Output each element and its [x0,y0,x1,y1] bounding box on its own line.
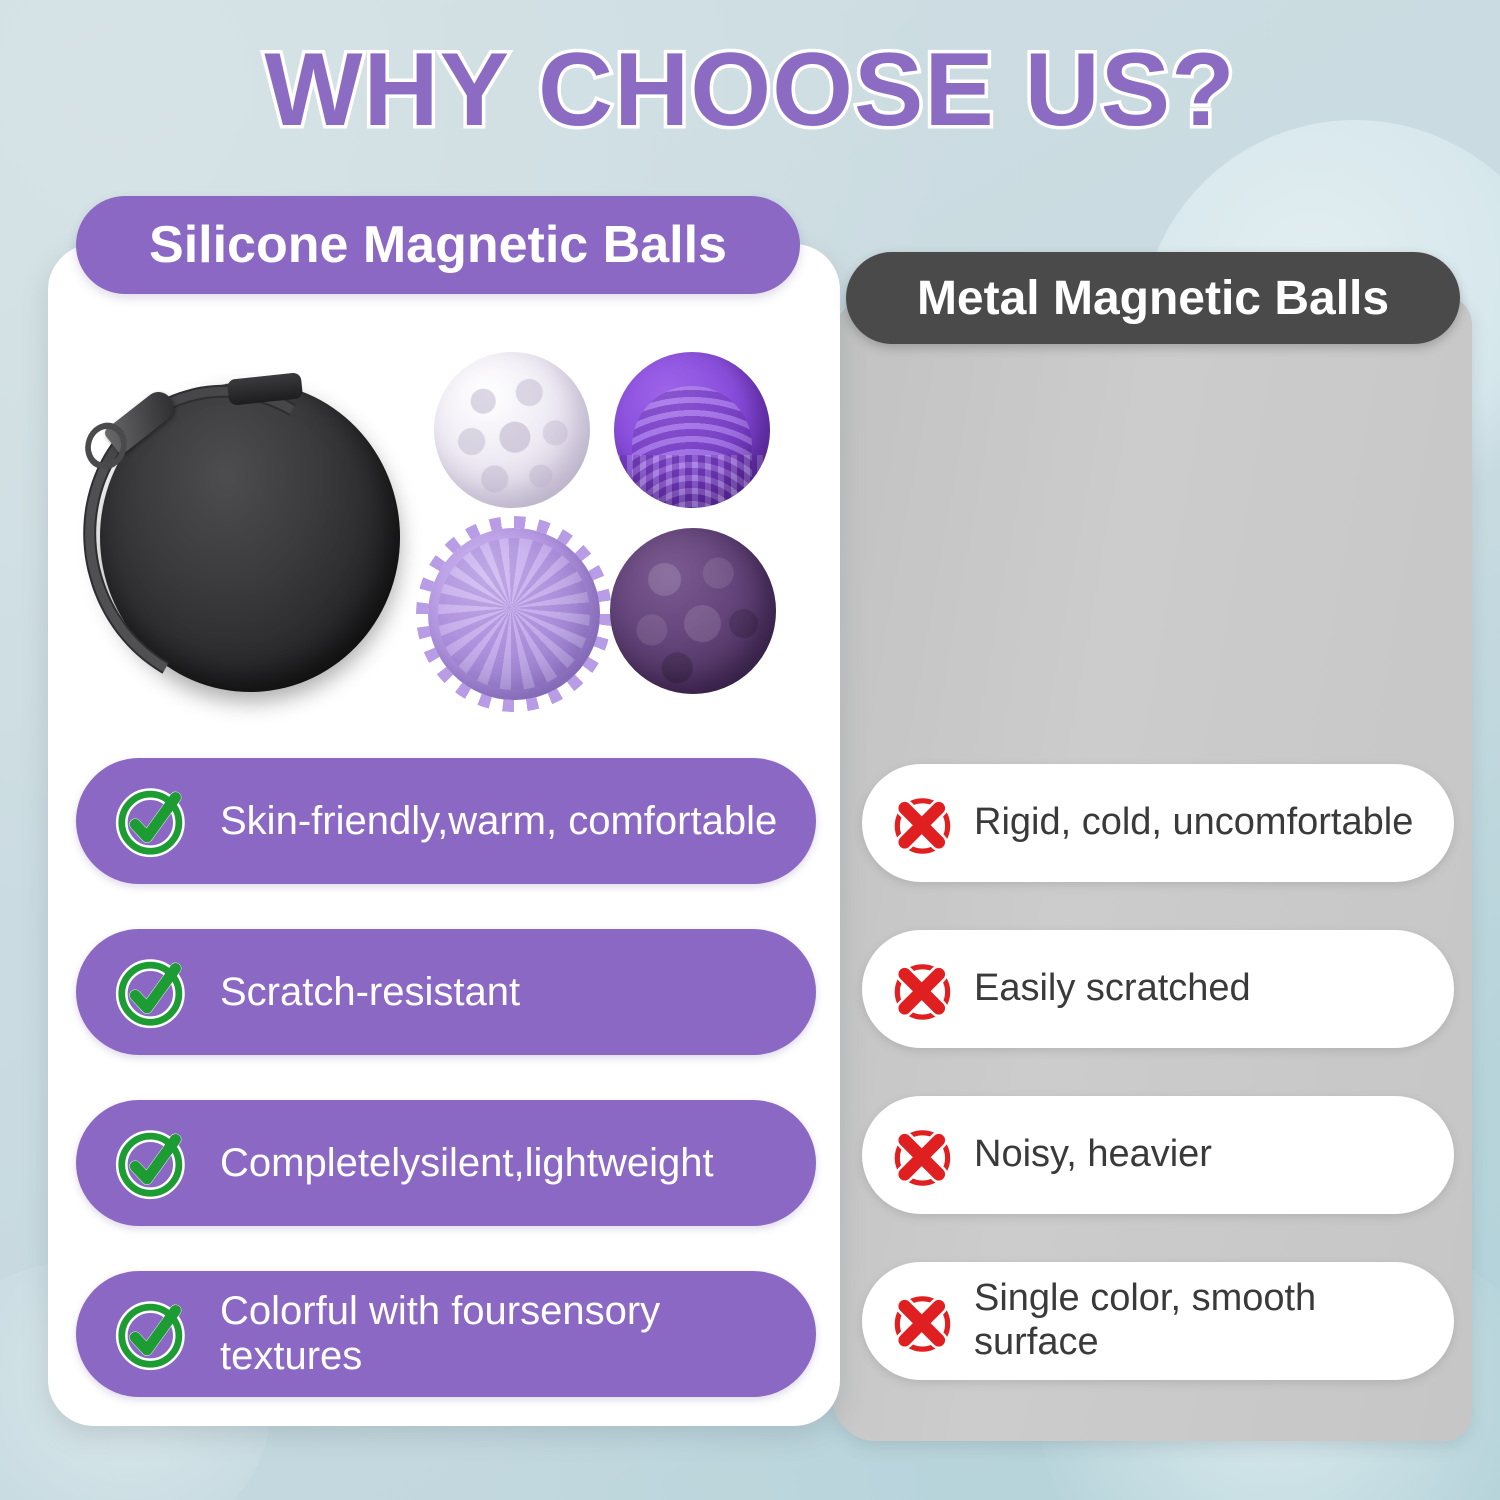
metal-badge: Metal Magnetic Balls [846,252,1460,344]
list-item-label: Single color, smooth surface [974,1277,1454,1364]
page-title: WHY CHOOSE US? [0,34,1500,146]
infographic-canvas: WHY CHOOSE US? Metal Magnetic [0,0,1500,1500]
light-purple-spiky-ball [428,528,600,700]
x-circle-icon [884,1118,958,1192]
dark-purple-bumpy-ball [610,528,776,694]
list-item-label: Easily scratched [974,967,1265,1011]
list-item: Completelysilent,lightweight [76,1100,816,1226]
list-item-label: Scratch-resistant [220,970,536,1015]
list-item-label: Skin-friendly,warm, comfortable [220,799,793,844]
list-item: Single color, smooth surface [862,1262,1454,1380]
check-circle-icon [110,1121,194,1205]
zipper-case-image [78,372,408,702]
zipper-teeth [49,353,408,726]
list-item: Colorful with foursensory textures [76,1271,816,1397]
white-faceted-ball [434,352,590,508]
silicone-badge: Silicone Magnetic Balls [76,196,800,294]
silicone-feature-list: Skin-friendly,warm, comfortable Scratch-… [76,758,816,1397]
list-item-label: Rigid, cold, uncomfortable [974,801,1427,845]
x-circle-icon [884,786,958,860]
list-item: Skin-friendly,warm, comfortable [76,758,816,884]
list-item: Rigid, cold, uncomfortable [862,764,1454,882]
metal-feature-list: Rigid, cold, uncomfortable Easily scratc… [862,764,1454,1380]
textured-balls-group [428,352,788,722]
list-item-label: Completelysilent,lightweight [220,1141,730,1186]
check-circle-icon [110,779,194,863]
silicone-product-image [48,330,840,750]
list-item: Noisy, heavier [862,1096,1454,1214]
check-circle-icon [110,1292,194,1376]
x-circle-icon [884,952,958,1026]
x-circle-icon [884,1284,958,1358]
list-item: Scratch-resistant [76,929,816,1055]
list-item-label: Noisy, heavier [974,1133,1226,1177]
check-circle-icon [110,950,194,1034]
list-item-label: Colorful with foursensory textures [220,1289,816,1379]
list-item: Easily scratched [862,930,1454,1048]
purple-ridged-ball [614,352,770,508]
